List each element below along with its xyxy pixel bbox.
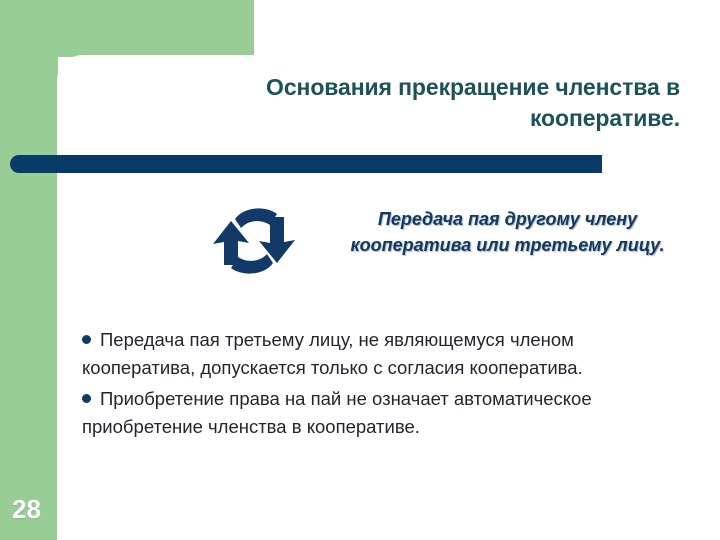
list-item-text: Приобретение права на пай не означает ав…	[82, 388, 592, 437]
bullet-marker-icon	[82, 335, 91, 344]
slide-title: Основания прекращение членства в коопера…	[150, 72, 680, 133]
list-item: Передача пая третьему лицу, не являющему…	[82, 326, 682, 382]
green-left-accent-band	[0, 0, 58, 540]
slide-subtitle: Передача пая другому члену кооператива и…	[335, 206, 680, 258]
page-number: 28	[12, 494, 52, 525]
slide-canvas: Основания прекращение членства в коопера…	[0, 0, 720, 540]
list-item-text: Передача пая третьему лицу, не являющему…	[82, 329, 583, 378]
cycle-arrows-icon	[207, 197, 303, 287]
list-item: Приобретение права на пай не означает ав…	[82, 385, 682, 441]
title-divider-bar	[10, 155, 602, 173]
bullet-marker-icon	[82, 394, 91, 403]
bullet-list: Передача пая третьему лицу, не являющему…	[82, 326, 682, 444]
